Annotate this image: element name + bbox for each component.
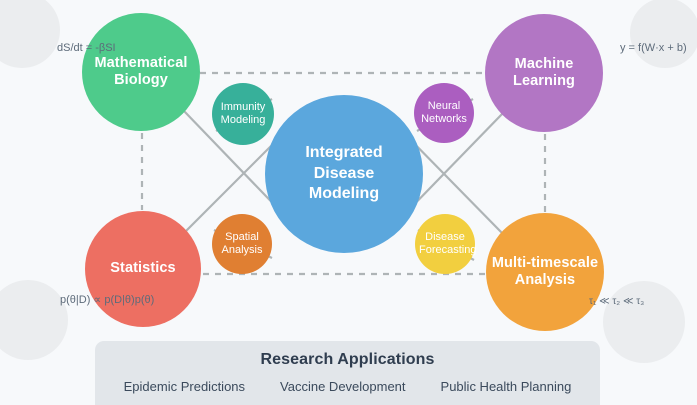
node-disease-forecasting[interactable]: Disease Forecasting: [415, 214, 475, 274]
node-statistics-label: Statistics: [85, 260, 201, 277]
application-item-public-health-planning[interactable]: Public Health Planning: [441, 379, 572, 394]
research-applications-title: Research Applications: [95, 351, 600, 369]
node-statistics[interactable]: Statistics: [85, 211, 201, 327]
node-spatial-analysis-label: Spatial Analysis: [212, 231, 272, 257]
node-spatial-analysis[interactable]: Spatial Analysis: [212, 214, 272, 274]
application-item-vaccine-development[interactable]: Vaccine Development: [280, 379, 406, 394]
node-machine-learning[interactable]: Machine Learning: [485, 14, 603, 132]
node-immunity-modeling[interactable]: Immunity Modeling: [212, 83, 274, 145]
node-immunity-modeling-label: Immunity Modeling: [212, 101, 274, 127]
research-applications-panel: Research Applications Epidemic Predictio…: [95, 341, 600, 405]
formula-timescale: τ₁ ≪ τ₂ ≪ τ₃: [589, 296, 644, 307]
research-applications-list: Epidemic Predictions Vaccine Development…: [95, 379, 600, 394]
node-integrated-disease-modeling[interactable]: Integrated Disease Modeling: [265, 95, 423, 253]
formula-bayes: p(θ|D) ∝ p(D|θ)p(θ): [60, 293, 154, 306]
node-multi-timescale-analysis[interactable]: Multi-timescale Analysis: [486, 213, 604, 331]
node-multi-timescale-analysis-label: Multi-timescale Analysis: [486, 255, 604, 289]
node-machine-learning-label: Machine Learning: [485, 56, 603, 90]
formula-neural-net: y = f(W·x + b): [620, 42, 687, 54]
node-neural-networks-label: Neural Networks: [414, 100, 474, 126]
diagram-canvas: Mathematical Biology Machine Learning St…: [0, 0, 697, 405]
node-neural-networks[interactable]: Neural Networks: [414, 83, 474, 143]
node-integrated-disease-modeling-label: Integrated Disease Modeling: [265, 143, 423, 205]
node-mathematical-biology[interactable]: Mathematical Biology: [82, 13, 200, 131]
formula-sir-model: dS/dt = -βSI: [57, 42, 116, 54]
node-mathematical-biology-label: Mathematical Biology: [82, 55, 200, 89]
node-disease-forecasting-label: Disease Forecasting: [415, 231, 475, 257]
application-item-epidemic-predictions[interactable]: Epidemic Predictions: [124, 379, 245, 394]
